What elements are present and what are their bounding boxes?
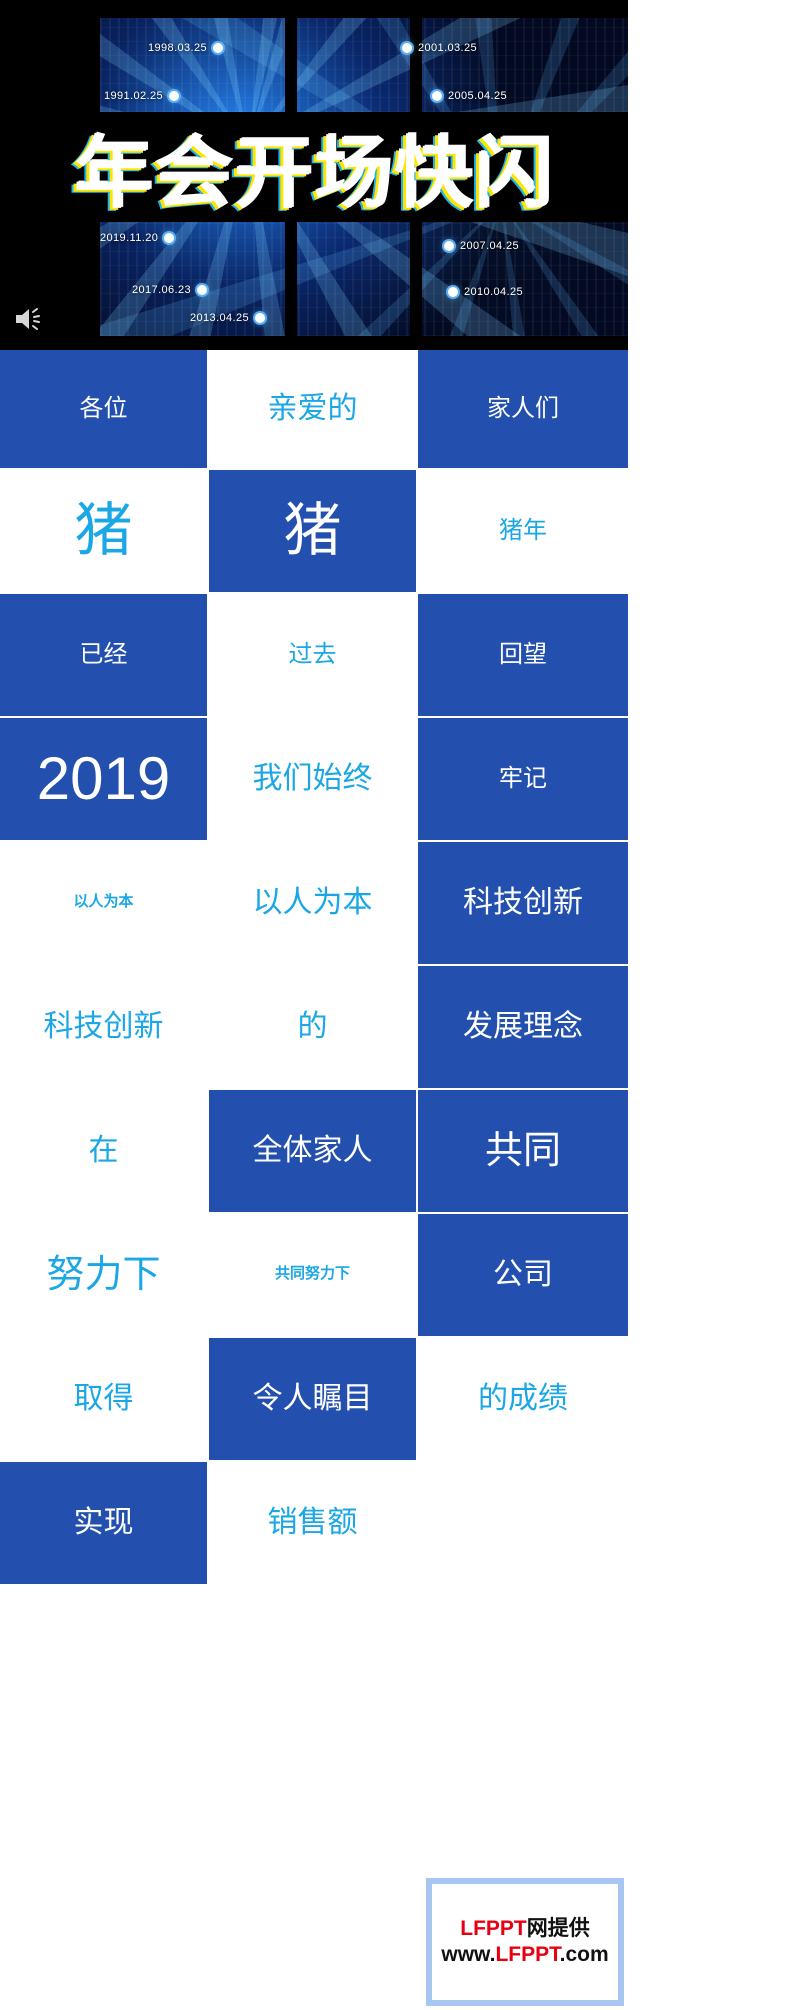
date-marker-icon <box>444 241 454 251</box>
grid-cell-text: 共同努力下 <box>275 1266 350 1284</box>
grid-cell: 销售额 <box>209 1462 418 1584</box>
date-tag-2013: 2013.04.25 <box>190 312 265 324</box>
grid-row: 在全体家人共同 <box>0 1090 628 1214</box>
grid-row: 实现销售额 <box>0 1462 628 1586</box>
grid-cell-text: 的成绩 <box>478 1381 568 1416</box>
speaker-icon[interactable] <box>14 306 44 332</box>
page-root: 1998.03.25 1991.02.25 2001.03.25 2005.04… <box>0 0 805 2010</box>
grid-row: 科技创新的发展理念 <box>0 966 628 1090</box>
flash-text-grid: 各位亲爱的家人们猪猪猪年已经过去回望2019我们始终牢记以人为本以人为本科技创新… <box>0 350 628 1586</box>
grid-cell: 牢记 <box>418 718 628 840</box>
grid-cell: 回望 <box>418 594 628 716</box>
grid-cell: 猪年 <box>418 470 628 592</box>
grid-cell-text: 回望 <box>499 641 547 669</box>
date-marker-icon <box>164 233 174 243</box>
watermark-line-1: LFPPT网提供 <box>460 1916 590 1942</box>
slide-stage: 1998.03.25 1991.02.25 2001.03.25 2005.04… <box>0 0 628 2010</box>
grid-cell-text: 实现 <box>74 1505 134 1540</box>
grid-cell-text: 销售额 <box>268 1505 358 1540</box>
date-tag-2007: 2007.04.25 <box>444 240 519 252</box>
grid-cell-text: 公司 <box>493 1257 553 1292</box>
grid-cell-text: 过去 <box>289 641 337 669</box>
grid-cell-text: 各位 <box>80 395 128 423</box>
grid-cell-text: 以人为本 <box>73 894 133 912</box>
grid-cell: 令人瞩目 <box>209 1338 418 1460</box>
grid-cell-text: 令人瞩目 <box>253 1381 373 1416</box>
grid-cell: 猪 <box>209 470 418 592</box>
date-marker-icon <box>448 287 458 297</box>
grid-cell: 努力下 <box>0 1214 209 1336</box>
date-marker-icon <box>432 91 442 101</box>
grid-cell-text: 在 <box>89 1133 119 1168</box>
watermark-url-www: www. <box>441 1943 495 1966</box>
grid-cell-text: 我们始终 <box>253 761 373 796</box>
grid-cell: 已经 <box>0 594 209 716</box>
date-label: 2001.03.25 <box>418 42 477 54</box>
grid-row: 2019我们始终牢记 <box>0 718 628 842</box>
grid-row: 取得令人瞩目的成绩 <box>0 1338 628 1462</box>
date-tag-2010: 2010.04.25 <box>448 286 523 298</box>
grid-cell: 亲爱的 <box>209 350 418 468</box>
watermark-logo: LFPPT网提供 www.LFPPT.com <box>426 1878 624 2006</box>
grid-cell-text: 2019 <box>37 744 170 815</box>
grid-row: 以人为本以人为本科技创新 <box>0 842 628 966</box>
date-marker-icon <box>402 43 412 53</box>
grid-cell: 取得 <box>0 1338 209 1460</box>
grid-cell-text: 亲爱的 <box>268 391 358 426</box>
date-tag-2017: 2017.06.23 <box>132 284 207 296</box>
grid-cell: 的 <box>209 966 418 1088</box>
grid-cell: 科技创新 <box>418 842 628 964</box>
grid-row: 猪猪猪年 <box>0 470 628 594</box>
grid-cell: 共同努力下 <box>209 1214 418 1336</box>
grid-cell-text: 努力下 <box>46 1253 160 1298</box>
grid-cell-text: 科技创新 <box>463 885 583 920</box>
grid-cell: 各位 <box>0 350 209 468</box>
grid-cell-text: 家人们 <box>487 395 559 423</box>
watermark-suffix: 网提供 <box>527 1917 590 1940</box>
cover-header: 1998.03.25 1991.02.25 2001.03.25 2005.04… <box>0 0 628 350</box>
grid-cell-text: 全体家人 <box>253 1133 373 1168</box>
grid-cell: 我们始终 <box>209 718 418 840</box>
grid-cell-text: 猪 <box>283 497 341 565</box>
grid-cell: 2019 <box>0 718 209 840</box>
date-tag-1998: 1998.03.25 <box>148 42 223 54</box>
grid-cell: 过去 <box>209 594 418 716</box>
date-tag-1991: 1991.02.25 <box>104 90 179 102</box>
grid-cell: 共同 <box>418 1090 628 1212</box>
date-label: 2007.04.25 <box>460 240 519 252</box>
grid-cell: 公司 <box>418 1214 628 1336</box>
date-label: 2019.11.20 <box>100 232 158 244</box>
grid-cell: 以人为本 <box>209 842 418 964</box>
date-marker-icon <box>255 313 265 323</box>
date-label: 1991.02.25 <box>104 90 163 102</box>
grid-cell: 家人们 <box>418 350 628 468</box>
grid-cell-text: 共同 <box>485 1129 561 1174</box>
watermark-url-tld: .com <box>560 1943 609 1966</box>
grid-cell: 在 <box>0 1090 209 1212</box>
grid-cell: 猪 <box>0 470 209 592</box>
grid-row: 已经过去回望 <box>0 594 628 718</box>
cover-title: 年会开场快闪 <box>0 108 628 226</box>
date-tag-2019: 2019.11.20 <box>100 232 174 244</box>
grid-cell: 科技创新 <box>0 966 209 1088</box>
grid-cell: 全体家人 <box>209 1090 418 1212</box>
date-marker-icon <box>169 91 179 101</box>
date-marker-icon <box>213 43 223 53</box>
grid-cell-text: 的 <box>298 1009 328 1044</box>
grid-row: 努力下共同努力下公司 <box>0 1214 628 1338</box>
date-label: 2010.04.25 <box>464 286 523 298</box>
grid-cell-text: 科技创新 <box>44 1009 164 1044</box>
grid-cell: 实现 <box>0 1462 209 1584</box>
grid-row: 各位亲爱的家人们 <box>0 350 628 470</box>
grid-cell-text: 猪 <box>74 497 132 565</box>
date-tag-2005: 2005.04.25 <box>432 90 507 102</box>
date-label: 1998.03.25 <box>148 42 207 54</box>
grid-cell: 发展理念 <box>418 966 628 1088</box>
grid-cell-text: 取得 <box>74 1381 134 1416</box>
date-label: 2005.04.25 <box>448 90 507 102</box>
date-marker-icon <box>197 285 207 295</box>
grid-cell-text: 牢记 <box>499 765 547 793</box>
grid-cell-text: 猪年 <box>499 517 547 545</box>
grid-cell-text: 发展理念 <box>463 1009 583 1044</box>
grid-cell-text: 已经 <box>80 641 128 669</box>
watermark-brand: LFPPT <box>460 1917 527 1940</box>
watermark-line-2: www.LFPPT.com <box>441 1942 608 1968</box>
watermark-url-brand: LFPPT <box>495 1943 559 1966</box>
grid-cell: 的成绩 <box>418 1338 628 1460</box>
grid-cell: 以人为本 <box>0 842 209 964</box>
grid-cell-text: 以人为本 <box>253 885 373 920</box>
date-tag-2001: 2001.03.25 <box>402 42 477 54</box>
date-label: 2013.04.25 <box>190 312 249 324</box>
date-label: 2017.06.23 <box>132 284 191 296</box>
